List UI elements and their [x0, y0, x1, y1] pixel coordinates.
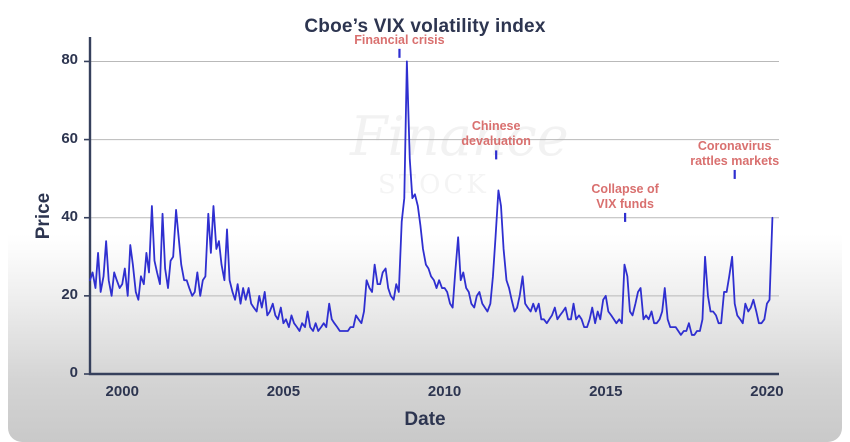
- x-tick-label: 2020: [727, 383, 807, 400]
- annotation-label: Financial crisis: [289, 33, 509, 48]
- y-tick-label: 40: [32, 208, 78, 225]
- y-tick-label: 0: [32, 364, 78, 381]
- y-tick-label: 60: [32, 130, 78, 147]
- x-tick-label: 2015: [566, 383, 646, 400]
- y-tick-label: 80: [32, 51, 78, 68]
- y-tick-label: 20: [32, 286, 78, 303]
- x-tick-label: 2010: [405, 383, 485, 400]
- chart-screenshot: Finance STOCK Cboe’s VIX volatility inde…: [0, 0, 850, 442]
- annotation-label: Chinese devaluation: [386, 119, 606, 149]
- x-tick-label: 2000: [82, 383, 162, 400]
- chart-figure: Finance STOCK Cboe’s VIX volatility inde…: [0, 0, 850, 442]
- annotation-label: Collapse of VIX funds: [515, 182, 735, 212]
- annotation-label: Coronavirus rattles markets: [625, 139, 845, 169]
- x-tick-label: 2005: [243, 383, 323, 400]
- chart-plot-area: [0, 0, 850, 442]
